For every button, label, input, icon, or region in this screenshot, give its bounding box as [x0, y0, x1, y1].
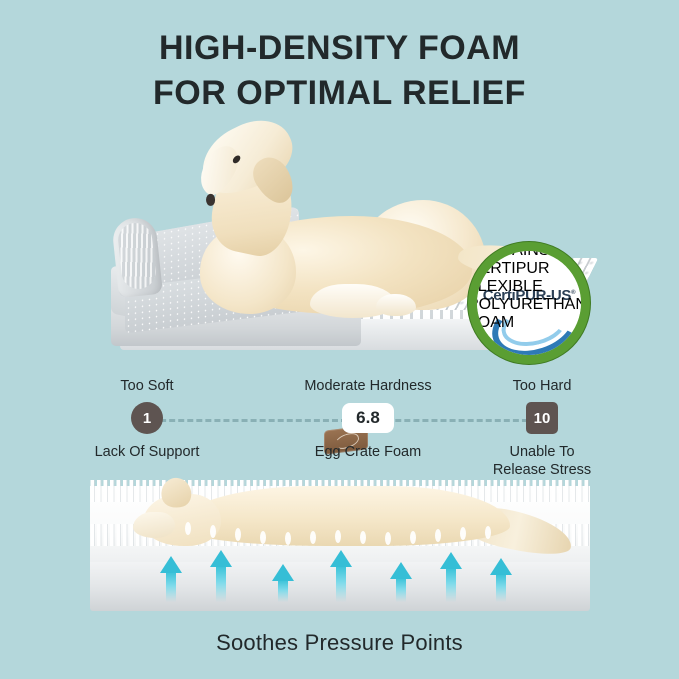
- pressure-arrow: [160, 556, 182, 602]
- arrow-shaft: [496, 574, 506, 602]
- scale-marker-row: 1: [64, 401, 230, 435]
- dog-nose: [206, 194, 215, 206]
- arrow-head-icon: [210, 550, 232, 567]
- spine-pressure-dot: [235, 528, 241, 541]
- badge-arc-char: R: [521, 296, 533, 313]
- arrow-head-icon: [330, 550, 352, 567]
- scale-bottom-label: Lack Of Support: [64, 444, 230, 462]
- badge-arc-char: Y: [499, 296, 510, 313]
- dog-muzzle: [193, 140, 245, 200]
- pressure-arrow: [272, 564, 294, 602]
- badge-arc-char: T: [504, 251, 513, 259]
- pressure-arrow: [210, 550, 232, 602]
- badge-arc-text: CONTAINS CERTIPUR FLEXIBLE POLYURETHANE …: [477, 251, 581, 355]
- dog-side-snout: [133, 512, 175, 538]
- arrow-head-icon: [440, 552, 462, 569]
- scale-marker-row: 6.8: [256, 401, 480, 435]
- scale-marker-10: 10: [526, 402, 558, 434]
- spine-pressure-dot: [360, 531, 366, 544]
- page-title: HIGH-DENSITY FOAM FOR OPTIMAL RELIEF: [0, 26, 679, 116]
- spine-pressure-dot: [335, 530, 341, 543]
- arrow-head-icon: [272, 564, 294, 581]
- badge-arc-char: T: [543, 296, 553, 313]
- badge-arc-char: M: [501, 314, 514, 331]
- pressure-caption: Soothes Pressure Points: [0, 630, 679, 656]
- arrow-shaft: [336, 566, 346, 602]
- badge-arc-char: R: [538, 260, 550, 277]
- scale-bottom-label: Egg Crate Foam: [256, 444, 480, 462]
- infographic-canvas: HIGH-DENSITY FOAM FOR OPTIMAL RELIEF: [0, 0, 679, 679]
- badge-arc-char: L: [523, 278, 532, 295]
- spine-pressure-dots: [185, 522, 495, 538]
- upward-pressure-arrows: [90, 546, 590, 602]
- badge-arc-char: E: [480, 260, 491, 277]
- badge-arc-char: A: [490, 314, 501, 331]
- spine-pressure-dot: [210, 525, 216, 538]
- hardness-scale: Too Soft 1 Lack Of Support Moderate Hard…: [0, 378, 679, 470]
- badge-arc-char: N: [492, 251, 504, 259]
- badge-arc-char: A: [512, 251, 523, 259]
- badge-arc-char: U: [526, 260, 538, 277]
- arrow-shaft: [216, 566, 226, 602]
- badge-arc-char: X: [497, 278, 508, 295]
- spine-pressure-dot: [460, 527, 466, 540]
- badge-arc-char: N: [527, 251, 539, 259]
- badge-arc-char: S: [539, 251, 550, 259]
- hero-product-photo: CertiPUR-US® CONTAINS CERTIPUR FLEXIBLE …: [0, 108, 679, 370]
- arrow-shaft: [396, 578, 406, 602]
- headline-line-1: HIGH-DENSITY FOAM: [159, 29, 520, 67]
- badge-arc-char: L: [478, 278, 487, 295]
- scale-marker-6-8: 6.8: [342, 403, 394, 433]
- scale-point-too-soft: Too Soft 1 Lack Of Support: [64, 378, 230, 462]
- spine-pressure-dot: [185, 522, 191, 535]
- badge-arc-char: O: [478, 314, 490, 331]
- arrow-head-icon: [390, 562, 412, 579]
- pressure-arrow: [390, 562, 412, 602]
- badge-arc-char: A: [565, 296, 576, 313]
- pressure-arrow: [490, 558, 512, 602]
- arrow-shaft: [278, 580, 288, 602]
- scale-point-moderate: Moderate Hardness 6.8 Egg Crate Foam: [256, 378, 480, 462]
- scale-point-too-hard: Too Hard 10 Unable To Release Stress: [468, 378, 616, 480]
- spine-pressure-dot: [385, 532, 391, 545]
- arrow-shaft: [446, 568, 456, 602]
- badge-arc-char: U: [510, 296, 522, 313]
- spine-pressure-dot: [260, 531, 266, 544]
- badge-arc-char: O: [480, 251, 492, 259]
- pressure-point-illustration: [0, 468, 679, 633]
- badge-arc-char: E: [487, 278, 498, 295]
- bed-arm-bolster: [111, 216, 163, 298]
- scale-marker-row: 10: [468, 401, 616, 435]
- badge-arc-char: E: [533, 296, 544, 313]
- scale-top-label: Too Hard: [468, 378, 616, 395]
- badge-arc-char: H: [553, 296, 565, 313]
- spine-pressure-dot: [310, 531, 316, 544]
- scale-bottom-label-line-1: Unable To: [468, 444, 616, 462]
- badge-arc-char: N: [575, 296, 581, 313]
- arrow-head-icon: [490, 558, 512, 575]
- arrow-shaft: [166, 572, 176, 602]
- scale-marker-1: 1: [131, 402, 163, 434]
- pressure-arrow: [440, 552, 462, 602]
- certipur-us-badge: CertiPUR-US® CONTAINS CERTIPUR FLEXIBLE …: [477, 251, 581, 355]
- badge-arc-char: E: [532, 278, 543, 295]
- dog-paw: [376, 294, 416, 316]
- badge-arc-char: L: [491, 296, 499, 313]
- spine-pressure-dot: [435, 529, 441, 542]
- scale-top-label: Too Soft: [64, 378, 230, 395]
- badge-arc-char: T: [502, 260, 512, 277]
- spine-pressure-dot: [285, 532, 291, 545]
- spine-pressure-dot: [410, 531, 416, 544]
- scale-top-label: Moderate Hardness: [256, 378, 480, 395]
- badge-arc-char: R: [490, 260, 501, 277]
- badge-arc-char: P: [516, 260, 527, 277]
- pressure-arrow: [330, 550, 352, 602]
- spine-pressure-dot: [485, 526, 491, 539]
- arrow-head-icon: [160, 556, 182, 573]
- badge-arc-char: O: [479, 296, 491, 313]
- badge-arc-char: B: [512, 278, 523, 295]
